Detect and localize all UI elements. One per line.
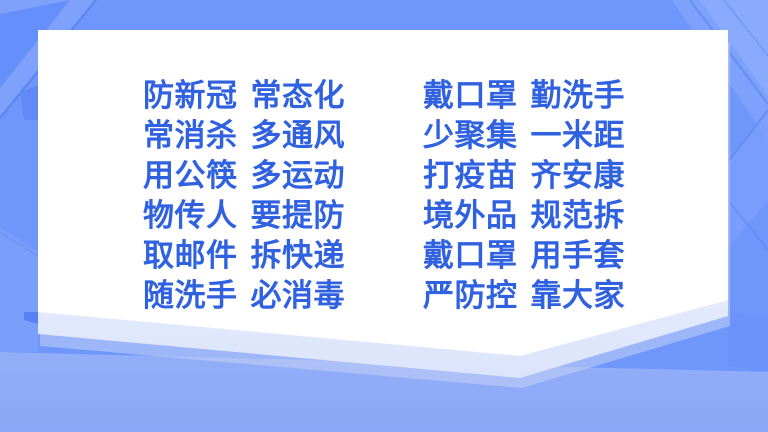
slogan-phrase: 齐安康 [531,156,626,196]
slogan-phrase: 防新冠 [143,76,238,116]
slogan-phrase: 要提防 [251,196,346,236]
slogan-phrase: 拆快递 [251,236,346,276]
slogan-phrase: 用手套 [531,236,626,276]
slogan-phrase: 一米距 [531,116,626,156]
slogan-line: 打疫苗 齐安康 [423,156,625,196]
poster-canvas: 防新冠 常态化 常消杀 多通风 用公筷 多运动 物传人 要提防 取邮件 拆快 [0,0,768,432]
slogan-phrase: 戴口罩 [423,76,518,116]
slogan-line: 防新冠 常态化 [143,76,345,116]
slogan-column-left: 防新冠 常态化 常消杀 多通风 用公筷 多运动 物传人 要提防 取邮件 拆快 [143,76,345,316]
slogan-phrase: 规范拆 [531,196,626,236]
slogan-phrase: 常态化 [251,76,346,116]
slogan-phrase: 取邮件 [143,236,238,276]
slogan-line: 常消杀 多通风 [143,116,345,156]
slogan-line: 严防控 靠大家 [423,276,625,316]
slogan-phrase: 多通风 [251,116,346,156]
slogan-phrase: 必消毒 [251,276,346,316]
slogan-phrase: 多运动 [251,156,346,196]
slogan-phrase: 严防控 [423,276,518,316]
slogan-columns: 防新冠 常态化 常消杀 多通风 用公筷 多运动 物传人 要提防 取邮件 拆快 [143,76,625,316]
slogan-line: 戴口罩 用手套 [423,236,625,276]
slogan-phrase: 戴口罩 [423,236,518,276]
slogan-line: 随洗手 必消毒 [143,276,345,316]
slogan-line: 少聚集 一米距 [423,116,625,156]
slogan-phrase: 勤洗手 [531,76,626,116]
slogan-phrase: 用公筷 [143,156,238,196]
slogan-phrase: 常消杀 [143,116,238,156]
slogan-phrase: 打疫苗 [423,156,518,196]
slogan-phrase: 靠大家 [531,276,626,316]
slogan-region: 防新冠 常态化 常消杀 多通风 用公筷 多运动 物传人 要提防 取邮件 拆快 [0,0,768,432]
slogan-line: 戴口罩 勤洗手 [423,76,625,116]
slogan-line: 用公筷 多运动 [143,156,345,196]
slogan-line: 物传人 要提防 [143,196,345,236]
slogan-column-right: 戴口罩 勤洗手 少聚集 一米距 打疫苗 齐安康 境外品 规范拆 戴口罩 用手 [423,76,625,316]
slogan-phrase: 少聚集 [423,116,518,156]
slogan-line: 取邮件 拆快递 [143,236,345,276]
slogan-phrase: 境外品 [423,196,518,236]
slogan-line: 境外品 规范拆 [423,196,625,236]
slogan-phrase: 物传人 [143,196,238,236]
slogan-phrase: 随洗手 [143,276,238,316]
